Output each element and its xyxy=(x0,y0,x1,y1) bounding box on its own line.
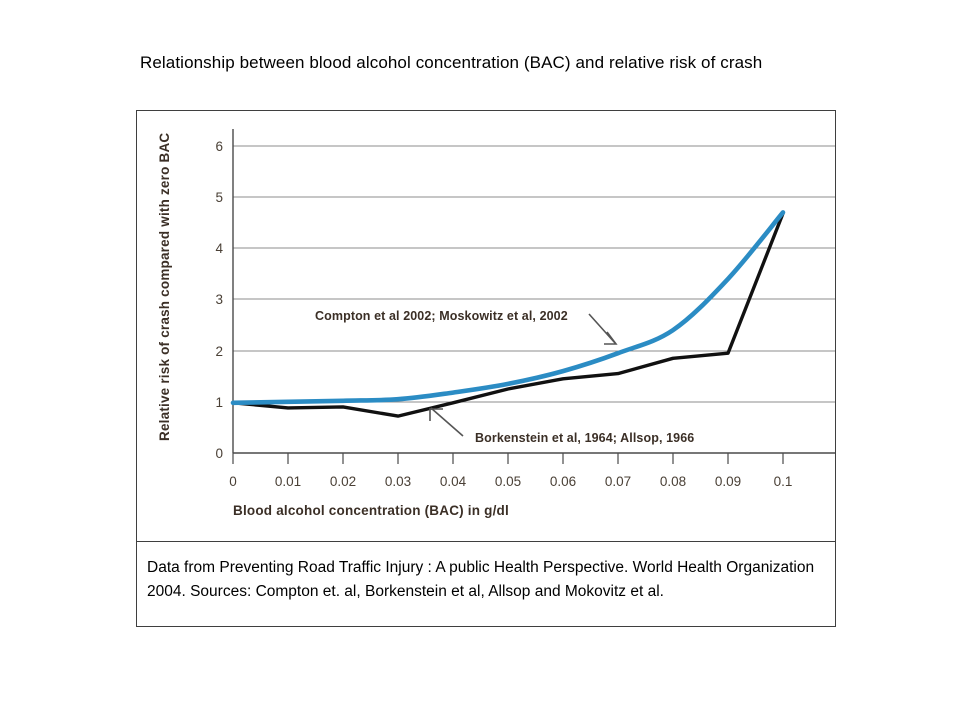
y-axis-title: Relative risk of crash compared with zer… xyxy=(157,133,172,441)
y-axis-tick-labels: 6 5 4 3 2 1 0 xyxy=(215,139,223,461)
x-tick-label: 0 xyxy=(229,474,237,489)
x-tick-label: 0.03 xyxy=(385,474,411,489)
y-tick-label: 5 xyxy=(215,190,223,205)
y-tick-label: 0 xyxy=(215,446,223,461)
y-tick-label: 1 xyxy=(215,395,223,410)
relative-risk-line-chart: 6 5 4 3 2 1 0 0 0.01 0.02 0.03 0.04 0.05… xyxy=(137,111,835,541)
x-tick-label: 0.1 xyxy=(774,474,793,489)
y-tick-label: 6 xyxy=(215,139,223,154)
x-axis-title: Blood alcohol concentration (BAC) in g/d… xyxy=(233,503,509,518)
y-tick-label: 4 xyxy=(215,241,223,256)
x-tick-label: 0.04 xyxy=(440,474,467,489)
x-tick-label: 0.09 xyxy=(715,474,741,489)
x-tick-label: 0.05 xyxy=(495,474,521,489)
x-axis-ticks xyxy=(233,453,783,464)
x-tick-label: 0.08 xyxy=(660,474,686,489)
annotation-borkenstein-arrow xyxy=(430,408,463,436)
annotation-compton-moskowitz: Compton et al 2002; Moskowitz et al, 200… xyxy=(315,309,616,344)
x-tick-label: 0.07 xyxy=(605,474,631,489)
page-title: Relationship between blood alcohol conce… xyxy=(140,50,840,76)
x-tick-label: 0.01 xyxy=(275,474,301,489)
annotation-borkenstein-allsop: Borkenstein et al, 1964; Allsop, 1966 xyxy=(430,408,694,445)
y-tick-label: 2 xyxy=(215,344,223,359)
y-tick-label: 3 xyxy=(215,292,223,307)
annotation-borkenstein-label: Borkenstein et al, 1964; Allsop, 1966 xyxy=(475,431,694,445)
series-line-compton-moskowitz xyxy=(233,212,783,402)
annotation-compton-arrow xyxy=(589,314,616,344)
figure-frame: 6 5 4 3 2 1 0 0 0.01 0.02 0.03 0.04 0.05… xyxy=(136,110,836,627)
x-tick-label: 0.06 xyxy=(550,474,576,489)
x-tick-label: 0.02 xyxy=(330,474,356,489)
figure-caption: Data from Preventing Road Traffic Injury… xyxy=(147,556,819,604)
x-axis-tick-labels: 0 0.01 0.02 0.03 0.04 0.05 0.06 0.07 0.0… xyxy=(229,474,792,489)
slide-canvas: Relationship between blood alcohol conce… xyxy=(0,0,960,720)
chart-plot-area: 6 5 4 3 2 1 0 0 0.01 0.02 0.03 0.04 0.05… xyxy=(137,111,835,541)
figure-caption-box: Data from Preventing Road Traffic Injury… xyxy=(137,541,835,626)
annotation-compton-label: Compton et al 2002; Moskowitz et al, 200… xyxy=(315,309,568,323)
